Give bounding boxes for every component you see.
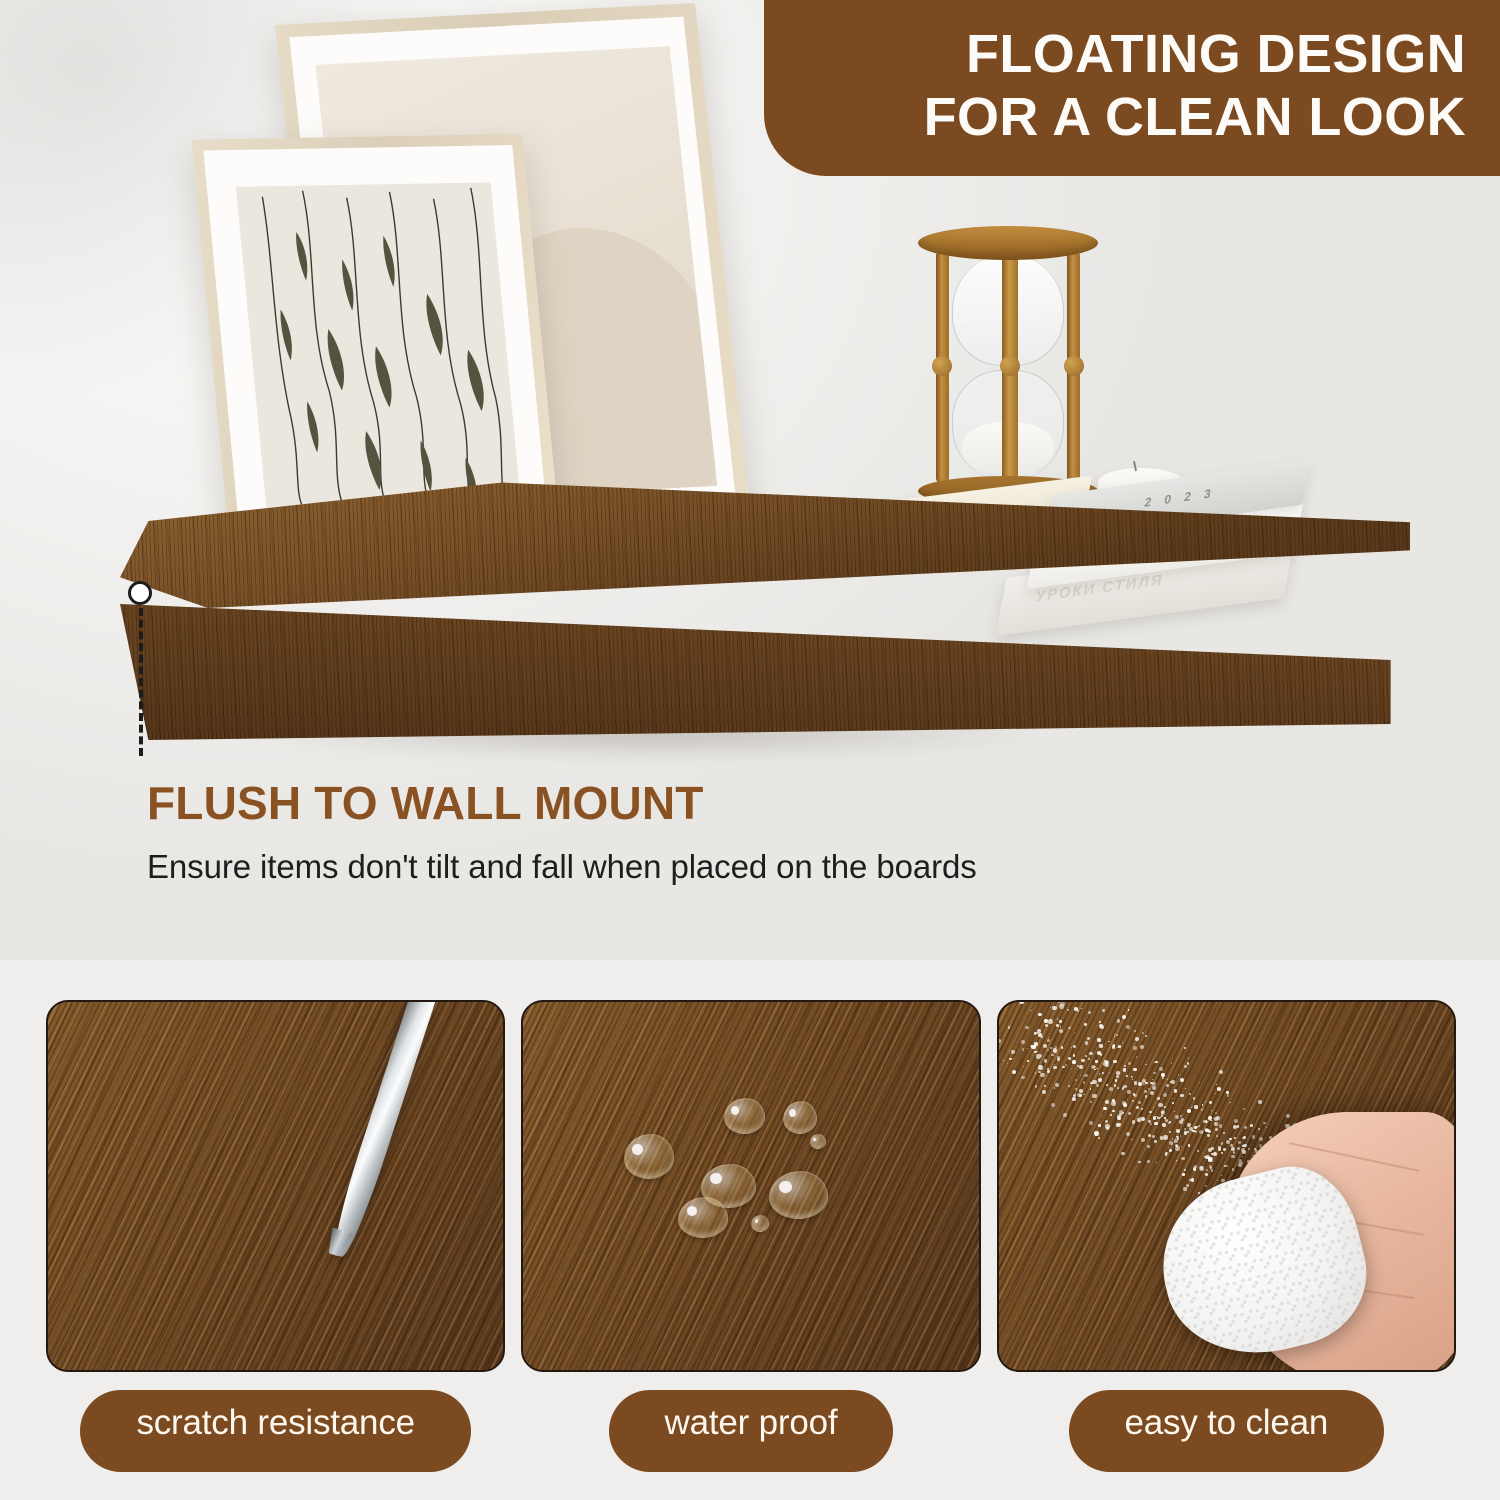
powder-speck [1168,1147,1169,1148]
powder-speck [1181,1157,1185,1161]
powder-speck [1110,1114,1112,1116]
product-feature-page: УРОКИ СТИЛЯ ПОЛ АРДЕН 2 0 2 3 FLOATING D… [0,0,1500,1500]
powder-speck [1116,1071,1120,1075]
powder-speck [1233,1151,1236,1154]
powder-speck [1062,1066,1064,1068]
powder-speck [1055,1046,1057,1048]
powder-speck [1170,1081,1172,1083]
powder-speck [1105,1100,1109,1104]
panel-water-proof [521,1000,980,1372]
powder-speck [1084,1074,1087,1077]
powder-speck [1142,1083,1143,1084]
powder-speck [1198,1192,1200,1194]
powder-speck [1141,1108,1143,1110]
panel-easy-to-clean [997,1000,1456,1372]
powder-speck [1099,1044,1103,1048]
powder-speck [1150,1082,1152,1084]
powder-speck [1172,1138,1173,1139]
powder-speck [1043,1044,1047,1048]
water-droplet [810,1134,825,1149]
powder-speck [1223,1132,1226,1135]
powder-speck [1181,1146,1182,1147]
powder-speck [1152,1079,1153,1080]
powder-speck [1050,1047,1052,1049]
powder-speck [1132,1079,1133,1080]
powder-speck [1286,1114,1290,1118]
powder-speck [1040,1073,1044,1077]
powder-speck [1243,1108,1245,1110]
hourglass-bead-center [1000,356,1020,376]
powder-speck [1205,1128,1208,1131]
powder-speck [1184,1128,1186,1130]
powder-speck [1035,1085,1038,1088]
powder-speck [1149,1111,1151,1113]
powder-speck [1090,1088,1092,1090]
powder-speck [1175,1115,1179,1119]
powder-speck [1048,1019,1052,1023]
line-sketch-artwork [236,182,521,507]
powder-speck [1128,1112,1131,1115]
powder-speck [1153,1116,1157,1120]
pill-easy-to-clean[interactable]: easy to clean [1069,1390,1385,1472]
powder-speck [1119,1123,1122,1126]
powder-speck [1074,1032,1075,1033]
powder-speck [1208,1116,1212,1120]
powder-speck [1132,1100,1134,1102]
powder-speck [1094,1131,1098,1135]
powder-speck [1073,1054,1075,1056]
powder-speck [1047,1070,1050,1073]
powder-speck [1250,1124,1253,1127]
powder-speck [1157,1097,1160,1100]
powder-speck [1058,1000,1060,1002]
powder-speck [1184,1047,1186,1049]
powder-speck [1128,1009,1130,1011]
powder-speck [1244,1126,1247,1129]
powder-speck [1163,1093,1167,1097]
powder-speck [1102,1009,1105,1012]
powder-speck [1142,1079,1146,1083]
powder-speck [1174,1089,1177,1092]
pill-scratch-resistance[interactable]: scratch resistance [80,1390,470,1472]
powder-speck [1090,1101,1092,1103]
powder-speck [1263,1122,1265,1124]
powder-speck [1126,1075,1128,1077]
powder-speck [1145,1082,1148,1085]
powder-speck [1068,1057,1071,1060]
powder-speck [1089,1121,1093,1125]
powder-speck [1089,1052,1093,1056]
powder-speck [1115,1079,1118,1082]
powder-speck [1138,1101,1141,1104]
powder-speck [1079,1094,1082,1097]
powder-speck [1227,1094,1230,1097]
powder-speck [1012,1070,1016,1074]
powder-speck [1187,1062,1190,1065]
powder-speck [1215,1093,1216,1094]
powder-speck [1183,1187,1186,1190]
powder-speck [1052,1006,1056,1010]
powder-speck [1122,1015,1126,1019]
feature-subtitle: Ensure items don't tilt and fall when pl… [147,847,1377,887]
powder-speck [1254,1148,1256,1150]
powder-speck [1213,1118,1214,1119]
powder-speck [1126,1132,1130,1136]
powder-speck [1211,1110,1212,1111]
powder-speck [1221,1142,1223,1144]
powder-speck [1071,1068,1072,1069]
powder-speck [1007,1063,1008,1064]
powder-speck [1252,1135,1256,1139]
feature-title: FLUSH TO WALL MOUNT [147,778,1377,829]
powder-speck [1238,1141,1241,1144]
powder-speck [1234,1119,1238,1123]
powder-speck [1194,1130,1197,1133]
powder-speck [1221,1152,1223,1154]
powder-speck [1079,1089,1083,1093]
powder-speck [1053,1066,1057,1070]
powder-speck [1119,1113,1122,1116]
water-droplet [769,1171,828,1219]
powder-speck [1105,1124,1109,1128]
powder-speck [997,1039,1001,1043]
powder-speck [1038,1065,1042,1069]
powder-speck [1194,1165,1197,1168]
powder-speck [1136,1056,1138,1058]
feature-caption-block: FLUSH TO WALL MOUNT Ensure items don't t… [147,778,1377,887]
powder-speck [1214,1117,1218,1121]
powder-speck [1145,1035,1147,1037]
water-droplet [678,1197,728,1237]
powder-speck [1059,1029,1063,1033]
finger-crease [1289,1142,1419,1172]
powder-speck [1057,1018,1058,1019]
hourglass-cap-top [918,226,1098,260]
powder-speck [1081,1008,1082,1009]
powder-speck [1202,1153,1204,1155]
powder-speck [1099,1021,1101,1023]
dashed-leader-line [139,608,143,756]
powder-speck [1152,1135,1155,1138]
powder-speck [1128,1062,1131,1065]
powder-speck [1156,1162,1157,1163]
powder-speck [1068,1085,1070,1087]
powder-speck [1039,1013,1042,1016]
powder-speck [1092,1080,1096,1084]
powder-speck [1205,1185,1207,1187]
powder-speck [1101,1115,1102,1116]
powder-speck [1065,1064,1067,1066]
powder-speck [1266,1127,1267,1128]
powder-speck [1044,1085,1046,1087]
powder-speck [1205,1101,1206,1102]
powder-speck [1226,1165,1228,1167]
powder-speck [1148,1134,1151,1137]
powder-speck [1243,1136,1246,1139]
powder-speck [1201,1109,1203,1111]
powder-speck [1096,1084,1100,1088]
powder-speck [1122,1042,1123,1043]
powder-speck [1211,1169,1213,1171]
powder-speck [1147,1160,1150,1163]
powder-speck [1223,1148,1226,1151]
powder-speck [1242,1156,1243,1157]
powder-speck [1027,1048,1028,1049]
powder-speck [1134,1081,1137,1084]
powder-speck [1134,1030,1136,1032]
powder-speck [1071,1047,1072,1048]
powder-speck [1162,1077,1164,1079]
powder-speck [1174,1111,1175,1112]
powder-speck [1161,1073,1165,1077]
wood-surface-texture [46,1000,505,1372]
powder-speck [1231,1155,1234,1158]
powder-speck [1087,1037,1090,1040]
pill-water-proof[interactable]: water proof [609,1390,894,1472]
powder-speck [1072,1060,1076,1064]
powder-speck [1036,1054,1040,1058]
hourglass-bead-left [932,356,952,376]
powder-speck [1208,1130,1211,1133]
powder-speck [1035,1032,1038,1035]
powder-speck [1176,1129,1180,1133]
powder-speck [1063,1113,1067,1117]
powder-speck [1216,1135,1218,1137]
powder-speck [1098,1124,1100,1126]
powder-speck [1060,1026,1061,1027]
powder-speck [1098,1137,1100,1139]
powder-speck [1055,1083,1059,1087]
powder-speck [1056,1024,1059,1027]
powder-speck [1047,1049,1049,1051]
powder-speck [1117,1047,1118,1048]
feature-pill-row: scratch resistance water proof easy to c… [46,1390,1456,1472]
powder-speck [1169,1131,1171,1133]
header-line-1: FLOATING DESIGN [966,23,1466,86]
powder-speck [1011,1050,1015,1054]
powder-speck [1030,1010,1031,1011]
powder-speck [1205,1120,1208,1123]
powder-speck [1156,1116,1157,1117]
powder-speck [1180,1135,1182,1137]
powder-speck [1202,1104,1203,1105]
powder-speck [1088,1058,1090,1060]
powder-speck [1167,1079,1168,1080]
floating-shelf [120,480,1410,760]
powder-speck [1145,1095,1147,1097]
powder-speck [1145,1064,1146,1065]
powder-speck [1197,1150,1198,1151]
powder-speck [997,1002,1000,1005]
powder-speck [1124,1065,1126,1067]
powder-speck [1051,1103,1055,1107]
powder-speck [1248,1148,1251,1151]
powder-speck [1135,1037,1139,1041]
powder-speck [1109,1072,1110,1073]
powder-speck [1186,1184,1189,1187]
water-droplet [751,1215,769,1232]
powder-speck [1038,1033,1042,1037]
powder-speck [1084,1023,1087,1026]
panel-scratch-resistance [46,1000,505,1372]
powder-speck [1080,1075,1081,1076]
powder-speck [1098,1078,1102,1082]
powder-speck [1077,1010,1079,1012]
powder-speck [1217,1180,1218,1181]
powder-speck [1206,1169,1209,1172]
powder-speck [1141,1138,1145,1142]
powder-speck [1021,1076,1024,1079]
powder-speck [1075,1088,1077,1090]
powder-speck [1164,1117,1166,1119]
powder-speck [1044,1059,1047,1062]
picture-frame-front [191,134,559,528]
powder-speck [1237,1125,1239,1127]
powder-speck [1169,1149,1172,1152]
powder-speck [1114,1084,1117,1087]
powder-speck [1180,1078,1184,1082]
powder-speck [1221,1175,1222,1176]
powder-speck [1073,1045,1076,1048]
powder-speck [1021,1040,1025,1044]
powder-speck [1164,1106,1166,1108]
powder-speck [1009,1058,1011,1060]
powder-speck [1085,1055,1087,1057]
powder-speck [1155,1061,1158,1064]
powder-speck [1179,1120,1183,1124]
powder-speck [1191,1178,1195,1182]
powder-speck [1121,1152,1124,1155]
powder-speck [1242,1145,1243,1146]
powder-speck [1232,1168,1235,1171]
powder-speck [1138,1161,1141,1164]
powder-speck [1013,1058,1014,1059]
powder-speck [1061,1046,1064,1049]
powder-speck [1022,1048,1025,1051]
powder-speck [1113,1060,1116,1063]
powder-speck [1044,1019,1048,1023]
powder-speck [1114,1036,1115,1037]
powder-speck [1199,1082,1200,1083]
powder-speck [1209,1101,1212,1104]
powder-speck [1075,1079,1077,1081]
wood-grain-texture [120,480,1410,608]
powder-speck [1105,1120,1108,1123]
feature-photo-row [46,1000,1456,1372]
line-art-svg [236,182,521,507]
powder-speck [1106,1084,1108,1086]
powder-speck [1175,1146,1179,1150]
powder-speck [1141,1117,1145,1121]
powder-speck [1192,1106,1193,1107]
powder-speck [1184,1169,1186,1171]
powder-speck [1045,1024,1048,1027]
powder-speck [1035,1072,1037,1074]
powder-speck [1215,1112,1217,1114]
powder-speck [1079,1065,1083,1069]
powder-speck [1143,1084,1145,1086]
powder-speck [1112,1045,1115,1048]
powder-speck [1189,1145,1190,1146]
powder-speck [1050,1007,1051,1008]
powder-speck [1215,1128,1218,1131]
powder-speck [1159,1067,1163,1071]
powder-speck [1133,1046,1137,1050]
hourglass-bead-right [1064,356,1084,376]
powder-speck [1112,1110,1115,1113]
powder-speck [1229,1102,1231,1104]
powder-speck [1171,1062,1172,1063]
powder-speck [1096,1068,1098,1070]
powder-speck [1132,1120,1136,1124]
powder-speck [1147,1145,1151,1149]
pill-slot: scratch resistance [46,1390,505,1472]
powder-speck [1193,1097,1195,1099]
powder-speck [1194,1126,1197,1129]
powder-speck [1051,1054,1053,1056]
powder-speck [1117,1087,1120,1090]
powder-speck [1203,1120,1206,1123]
powder-speck [1189,1093,1191,1095]
candle-wick [1133,461,1137,471]
header-banner: FLOATING DESIGN FOR A CLEAN LOOK [764,0,1500,176]
powder-speck [1182,1173,1184,1175]
powder-speck [1133,1068,1136,1071]
pill-slot: water proof [521,1390,980,1472]
powder-speck [1097,1038,1101,1042]
powder-speck [1187,1109,1191,1113]
powder-speck [1123,1085,1126,1088]
powder-speck [1154,1122,1157,1125]
powder-speck [1083,1081,1085,1083]
powder-speck [1199,1130,1203,1134]
powder-speck [1113,1102,1115,1104]
shelf-top-surface [120,480,1410,608]
powder-speck [1054,1087,1056,1089]
powder-speck [1072,1097,1076,1101]
powder-speck [1237,1147,1240,1150]
powder-speck [1258,1100,1262,1104]
powder-speck [1168,1122,1170,1124]
powder-speck [1092,1094,1096,1098]
powder-speck [1152,1086,1156,1090]
powder-speck [1153,1107,1155,1109]
powder-speck [1172,1098,1173,1099]
powder-speck [1127,1099,1128,1100]
powder-speck [1191,1107,1192,1108]
powder-speck [1177,1138,1179,1140]
powder-speck [1258,1128,1260,1130]
powder-speck [1027,1060,1029,1062]
powder-speck [1088,1011,1091,1014]
powder-speck [1150,1091,1154,1095]
powder-speck [1205,1173,1208,1176]
powder-speck [1213,1152,1217,1156]
powder-speck [1090,1082,1092,1084]
powder-speck [1166,1084,1170,1088]
powder-speck [1180,1094,1184,1098]
water-droplet [783,1101,817,1134]
wall-mount-marker-icon [128,581,152,605]
powder-speck [1059,1004,1063,1008]
powder-speck [1131,1139,1132,1140]
water-droplet [624,1134,674,1178]
powder-speck [1142,1032,1144,1034]
powder-speck [1031,1045,1035,1049]
powder-speck [1169,1141,1173,1145]
powder-speck [1172,1102,1174,1104]
powder-speck [1042,1090,1046,1094]
